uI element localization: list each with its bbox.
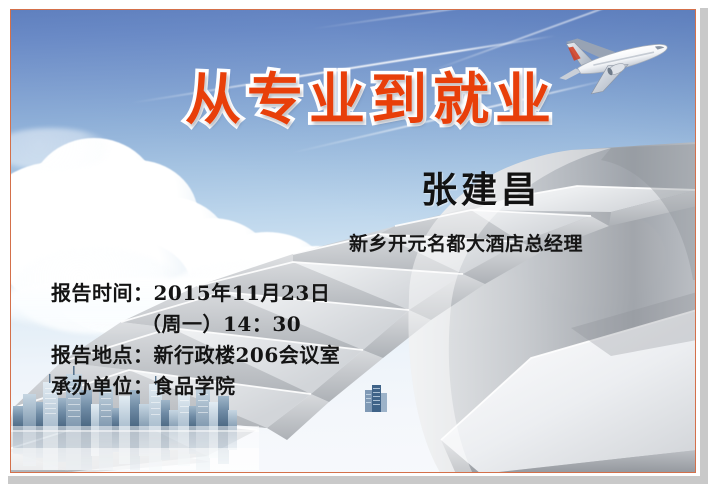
- speaker-name: 张建昌: [341, 168, 621, 212]
- info-time-line: 报告时间：2015年11月23日: [51, 278, 340, 309]
- slide-canvas: 从专业到就业 张建昌 新乡开元名都大酒店总经理 报告时间：2015年11月23日…: [11, 10, 695, 472]
- page-title: 从专业到就业: [131, 68, 611, 134]
- info-organizer-line: 承办单位：食品学院: [51, 371, 340, 402]
- info-place-line: 报告地点：新行政楼206会议室: [51, 340, 340, 371]
- speaker-title: 新乡开元名都大酒店总经理: [311, 231, 621, 257]
- presentation-slide: 从专业到就业 张建昌 新乡开元名都大酒店总经理 报告时间：2015年11月23日…: [10, 9, 696, 473]
- page-right-margin: [700, 8, 708, 484]
- page-background: 从专业到就业 张建昌 新乡开元名都大酒店总经理 报告时间：2015年11月23日…: [0, 0, 708, 484]
- event-info-block: 报告时间：2015年11月23日 （周一）14：30 报告地点：新行政楼206会…: [51, 278, 340, 402]
- page-bottom-margin: [8, 476, 708, 484]
- info-time-second-line: （周一）14：30: [51, 309, 340, 340]
- mini-building-icon: [363, 382, 389, 412]
